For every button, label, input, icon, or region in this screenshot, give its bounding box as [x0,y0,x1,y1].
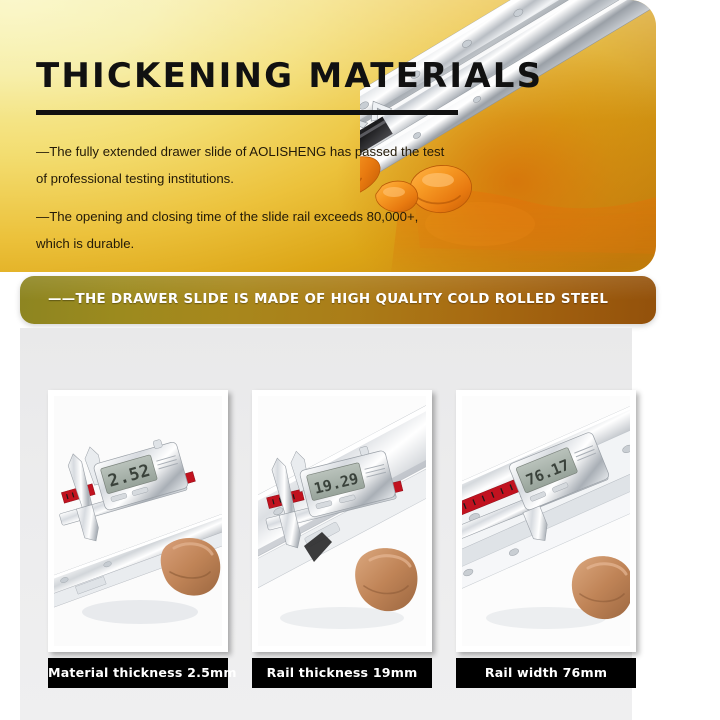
tagline-banner: ——THE DRAWER SLIDE IS MADE OF HIGH QUALI… [20,276,656,324]
hero-body-copy: —The fully extended drawer slide of AOLI… [36,138,446,257]
caption-rail-thickness: Rail thickness 19mm [252,658,432,688]
photo-card-rail-thickness: 19.29 [252,390,432,652]
caption-material-thickness: Material thickness 2.5mm [48,658,228,688]
photo-image-2: 19.29 [258,396,426,646]
photo-card-rail-width: 76.17 [456,390,636,652]
gallery-section: 2.52 [20,328,632,720]
hero-bullet-2: —The opening and closing time of the sli… [36,203,446,257]
hero-panel: THICKENING MATERIALS —The fully extended… [0,0,656,272]
photo-card-material-thickness: 2.52 [48,390,228,652]
title-underline-rule [36,110,458,115]
hero-bullet-1: —The fully extended drawer slide of AOLI… [36,138,446,192]
photo-image-3: 76.17 [462,396,630,646]
page-title: THICKENING MATERIALS [36,56,543,96]
tagline-text: ——THE DRAWER SLIDE IS MADE OF HIGH QUALI… [48,276,608,324]
photo-panels: 2.52 [48,390,632,652]
caption-rail-width: Rail width 76mm [456,658,636,688]
photo-image-1: 2.52 [54,396,222,646]
